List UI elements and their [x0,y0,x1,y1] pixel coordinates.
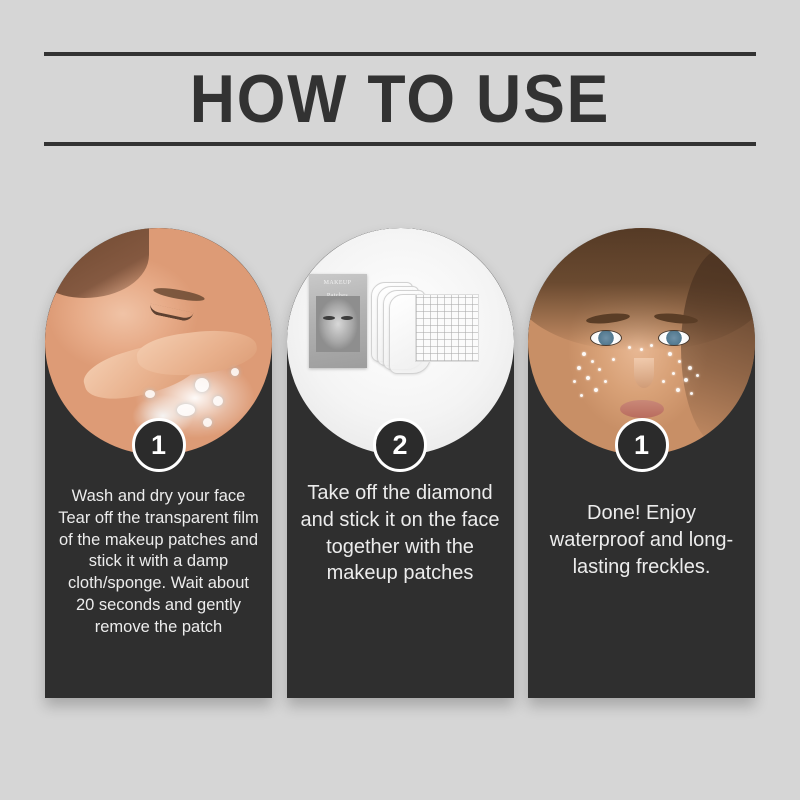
glitter-freckle [573,380,576,383]
hair-shape-side [681,248,755,448]
water-droplet [231,368,239,376]
water-droplet [145,390,155,398]
glitter-freckle [594,388,598,392]
page-header: HOW TO USE [44,52,756,146]
lips-shape [620,400,664,418]
glitter-freckle [696,374,699,377]
eye-left [590,330,622,346]
step-2-caption: Take off the diamond and stick it on the… [299,480,502,587]
water-droplet [177,404,195,416]
glitter-freckle [612,358,615,361]
eyebrow-shape [153,286,206,304]
nose-shape [634,358,654,388]
page-title: HOW TO USE [72,56,727,142]
glitter-freckle [577,366,581,370]
step-2-badge: 2 [373,418,427,472]
glitter-freckle [650,344,653,347]
glitter-freckle [628,346,631,349]
glitter-freckle [690,392,693,395]
closed-eye-shape [148,304,193,323]
step-card-2: MAKEUP Patches Take off the diamond and … [287,228,514,698]
product-package: MAKEUP Patches [309,274,367,368]
glitter-freckle [684,378,688,382]
package-face-illustration [316,296,360,352]
package-title: MAKEUP [309,280,367,287]
step-card-1: Wash and dry your face Tear off the tran… [45,228,272,698]
step-3-badge: 1 [615,418,669,472]
glitter-freckle [676,388,680,392]
glitter-freckle [668,352,672,356]
glitter-freckle [582,352,586,356]
glitter-freckle [688,366,692,370]
eye-right [658,330,690,346]
glitter-freckle [591,360,594,363]
step-card-3: Done! Enjoy waterproof and long-lasting … [528,228,755,698]
glitter-freckle [580,394,583,397]
glitter-freckle [640,348,643,351]
gem-sheet [415,294,479,362]
steps-container: Wash and dry your face Tear off the tran… [45,228,755,700]
glitter-freckle [662,380,665,383]
glitter-freckle [604,380,607,383]
glitter-freckle [672,372,675,375]
water-droplet [195,378,209,392]
glitter-freckle [598,368,601,371]
step-1-caption: Wash and dry your face Tear off the tran… [57,486,260,638]
illustration-eye-right [341,316,353,320]
hair-shape [45,228,149,298]
glitter-freckle [678,360,681,363]
water-droplet [213,396,223,406]
step-1-badge: 1 [132,418,186,472]
illustration-eye-left [323,316,335,320]
water-droplet [203,418,212,427]
step-3-caption: Done! Enjoy waterproof and long-lasting … [540,500,743,580]
glitter-freckle [586,376,590,380]
title-rule-bottom [44,142,756,146]
